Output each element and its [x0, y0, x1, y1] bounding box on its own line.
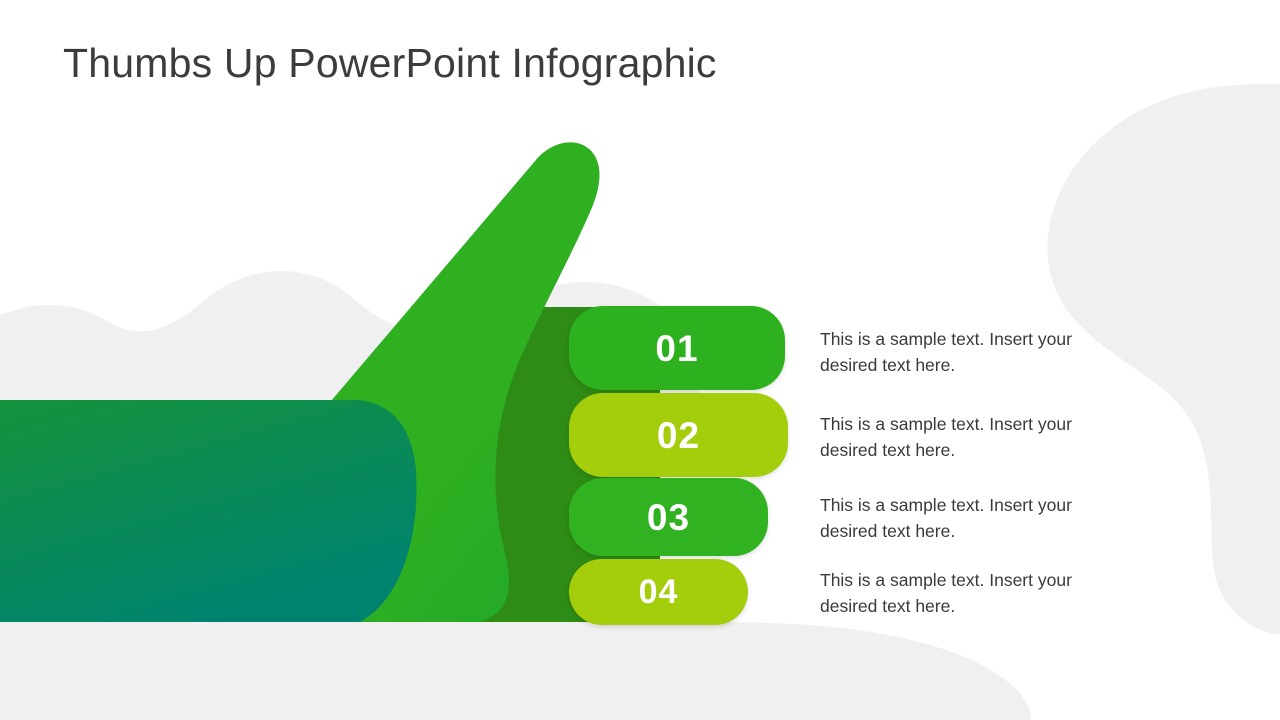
- description-02[interactable]: This is a sample text. Insert your desir…: [820, 411, 1082, 463]
- description-03[interactable]: This is a sample text. Insert your desir…: [820, 492, 1082, 544]
- description-list: This is a sample text. Insert your desir…: [0, 0, 1280, 720]
- slide-canvas: Thumbs Up PowerPoint Infographic 01: [0, 0, 1280, 720]
- description-01[interactable]: This is a sample text. Insert your desir…: [820, 326, 1082, 378]
- description-04[interactable]: This is a sample text. Insert your desir…: [820, 567, 1082, 619]
